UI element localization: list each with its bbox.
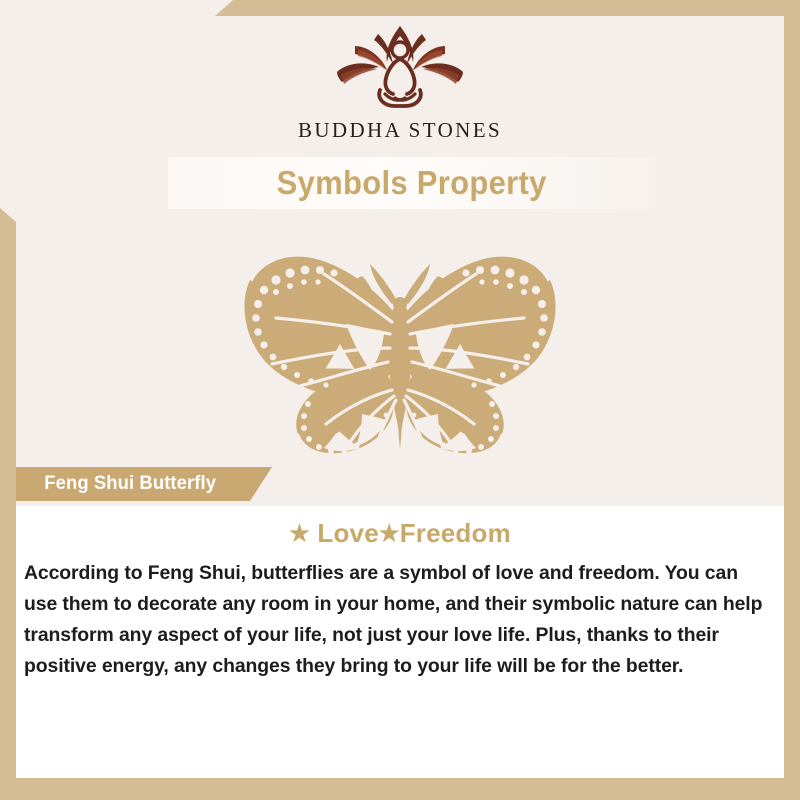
decorative-border-right (784, 0, 800, 800)
title-band: Symbols Property (168, 157, 655, 209)
content-paragraph: According to Feng Shui, butterflies are … (24, 558, 772, 682)
page-root: BUDDHA STONES Symbols Property (0, 0, 800, 800)
star-icon-left: ★ (289, 520, 310, 546)
butterfly-illustration (16, 244, 784, 459)
decorative-border-top (215, 0, 800, 16)
butterfly-icon (220, 244, 580, 459)
decorative-border-left (0, 208, 16, 800)
section-label-text: Feng Shui Butterfly (19, 473, 216, 495)
content-card: ★ Love★Freedom According to Feng Shui, b… (16, 506, 784, 778)
page-surface: BUDDHA STONES Symbols Property (16, 16, 784, 778)
page-title: Symbols Property (277, 164, 547, 202)
content-subtitle: ★ Love★Freedom (16, 520, 784, 546)
star-icon-middle: ★ (379, 520, 400, 546)
brand-header: BUDDHA STONES (16, 20, 784, 143)
subtitle-word-freedom: Freedom (400, 518, 511, 548)
section-label-ribbon: Feng Shui Butterfly (16, 467, 272, 501)
brand-wordmark: BUDDHA STONES (298, 118, 502, 143)
lotus-meditation-figure-icon (325, 20, 475, 116)
decorative-border-bottom (0, 778, 784, 800)
subtitle-word-love: Love (317, 518, 378, 548)
